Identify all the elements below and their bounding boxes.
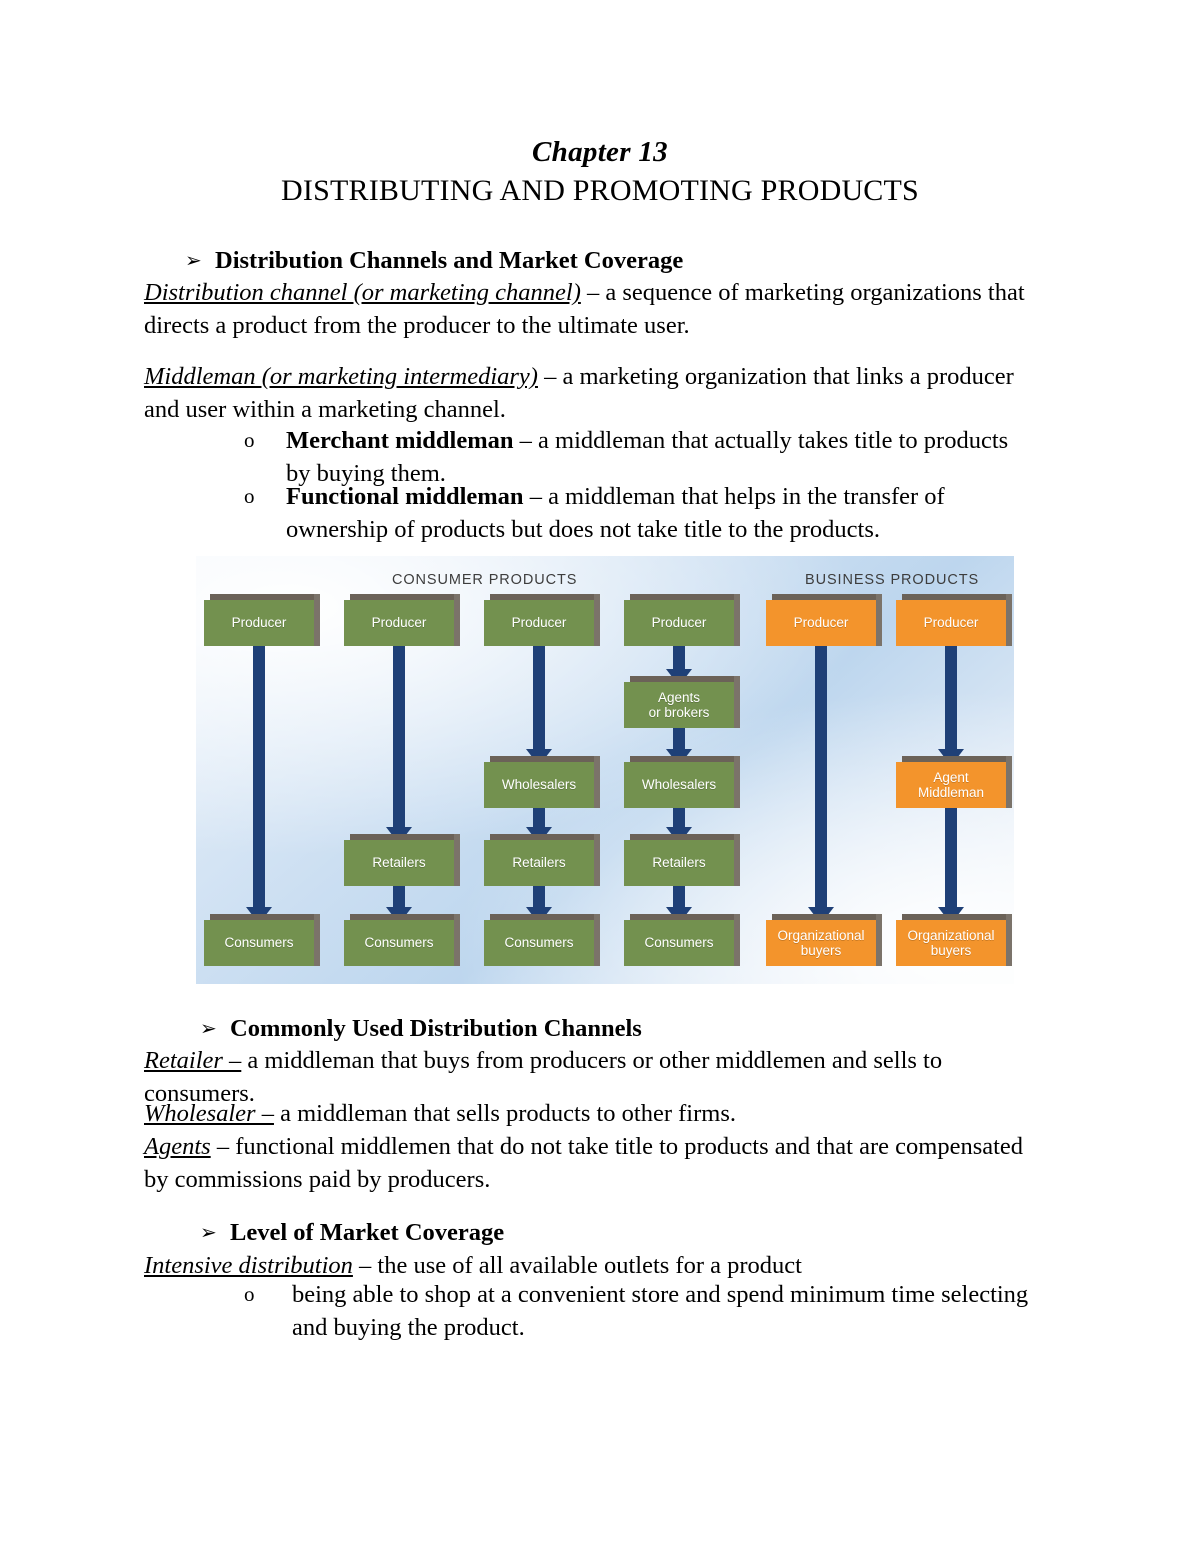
convenient-store-line1: being able to shop at a convenient store… [292, 1281, 1028, 1308]
section-heading-text: Level of Market Coverage [230, 1219, 504, 1246]
diagram-node-wholesalers: Wholesalers [484, 762, 594, 808]
node-label: Consumers [504, 935, 573, 951]
chapter-label: Chapter 13 [0, 136, 1200, 169]
section-heading-commonly-used-channels: ➢Commonly Used Distribution Channels [200, 1012, 642, 1045]
retailer-line1: a middleman that buys from producers or … [241, 1047, 942, 1074]
definition-agents: Agents – functional middlemen that do no… [144, 1130, 1079, 1196]
diagram-node-consumers: Consumers [624, 920, 734, 966]
term-distribution-channel: Distribution channel (or marketing chann… [144, 279, 581, 306]
merchant-middleman-line1: – a middleman that actually takes title … [514, 427, 1009, 454]
diagram-node-organizational-buyers: Organizationalbuyers [766, 920, 876, 966]
node-bevel-right [876, 914, 882, 966]
section-heading-distribution-channels: ➢Distribution Channels and Market Covera… [185, 244, 683, 277]
node-label: Agentsor brokers [649, 690, 710, 721]
node-label: Producer [372, 615, 427, 631]
bullet-arrow-icon: ➢ [200, 1012, 230, 1045]
distribution-channels-diagram: CONSUMER PRODUCTSBUSINESS PRODUCTSProduc… [196, 556, 1014, 984]
document-page: Chapter 13 DISTRIBUTING AND PROMOTING PR… [0, 0, 1200, 1553]
diagram-node-retailers: Retailers [624, 840, 734, 886]
middleman-text-line2: and user within a marketing channel. [144, 396, 506, 423]
agents-line1: – functional middlemen that do not take … [211, 1133, 1023, 1160]
node-bevel-right [314, 914, 320, 966]
node-bevel-right [734, 594, 740, 646]
node-label: Wholesalers [502, 777, 576, 793]
term-functional-middleman: Functional middleman [286, 483, 524, 510]
diagram-node-producer: Producer [624, 600, 734, 646]
functional-middleman-line2: ownership of products but does not take … [286, 516, 880, 543]
bullet-arrow-icon: ➢ [185, 244, 215, 277]
node-bevel-right [454, 914, 460, 966]
flow-arrow-icon [386, 644, 412, 844]
node-bevel-right [454, 594, 460, 646]
flow-arrow-icon [938, 644, 964, 766]
diagram-node-producer: Producer [344, 600, 454, 646]
node-bevel-right [594, 594, 600, 646]
node-label: Producer [512, 615, 567, 631]
intensive-distribution-text: – the use of all available outlets for a… [353, 1252, 802, 1279]
diagram-node-organizational-buyers: Organizationalbuyers [896, 920, 1006, 966]
diagram-node-consumers: Consumers [484, 920, 594, 966]
node-label: Producer [652, 615, 707, 631]
node-bevel-right [594, 756, 600, 808]
term-retailer: Retailer – [144, 1047, 241, 1074]
functional-middleman-line1: – a middleman that helps in the transfer… [524, 483, 945, 510]
figure-group-label-1: CONSUMER PRODUCTS [392, 572, 577, 588]
convenient-store-line2: and buying the product. [292, 1314, 525, 1341]
diagram-node-producer: Producer [896, 600, 1006, 646]
middleman-text-line1: – a marketing organization that links a … [538, 363, 1014, 390]
node-bevel-right [314, 594, 320, 646]
node-bevel-right [734, 676, 740, 728]
convenient-store-body: being able to shop at a convenient store… [292, 1278, 1064, 1344]
bullet-arrow-icon: ➢ [200, 1216, 230, 1249]
section-heading-text: Commonly Used Distribution Channels [230, 1015, 642, 1042]
node-bevel-right [1006, 594, 1012, 646]
node-label: Producer [794, 615, 849, 631]
node-bevel-right [876, 594, 882, 646]
node-bevel-right [594, 914, 600, 966]
node-label: Retailers [512, 855, 565, 871]
list-item-functional-middleman: o Functional middleman – a middleman tha… [244, 480, 1044, 546]
definition-middleman: Middleman (or marketing intermediary) – … [144, 360, 1074, 426]
node-label: Wholesalers [642, 777, 716, 793]
node-bevel-right [594, 834, 600, 886]
term-middleman: Middleman (or marketing intermediary) [144, 363, 538, 390]
diagram-node-agent-middleman: AgentMiddleman [896, 762, 1006, 808]
flow-arrow-icon [246, 644, 272, 924]
diagram-node-producer: Producer [204, 600, 314, 646]
node-label: Consumers [364, 935, 433, 951]
circle-bullet-icon: o [244, 1278, 255, 1311]
node-label: Organizationalbuyers [907, 928, 994, 959]
node-bevel-right [734, 914, 740, 966]
definition-text-line1: – a sequence of marketing organizations … [581, 279, 1025, 306]
definition-wholesaler: Wholesaler – a middleman that sells prod… [144, 1097, 1074, 1130]
definition-text-line2: directs a product from the producer to t… [144, 312, 690, 339]
diagram-node-producer: Producer [484, 600, 594, 646]
node-label: Organizationalbuyers [777, 928, 864, 959]
node-label: Retailers [372, 855, 425, 871]
circle-bullet-icon: o [244, 424, 255, 457]
node-label: Producer [232, 615, 287, 631]
node-bevel-right [734, 834, 740, 886]
diagram-node-producer: Producer [766, 600, 876, 646]
figure-group-label-2: BUSINESS PRODUCTS [805, 572, 979, 588]
term-intensive-distribution: Intensive distribution [144, 1252, 353, 1279]
section-heading-level-of-market-coverage: ➢Level of Market Coverage [200, 1216, 504, 1249]
node-bevel-right [1006, 914, 1012, 966]
flow-arrow-icon [808, 644, 834, 924]
definition-distribution-channel: Distribution channel (or marketing chann… [144, 276, 1074, 342]
node-bevel-right [454, 834, 460, 886]
term-wholesaler: Wholesaler – [144, 1100, 274, 1127]
list-item-convenient-store: o being able to shop at a convenient sto… [244, 1278, 1064, 1344]
section-heading-text: Distribution Channels and Market Coverag… [215, 247, 683, 274]
flow-arrow-icon [938, 806, 964, 924]
node-label: Consumers [224, 935, 293, 951]
node-label: Retailers [652, 855, 705, 871]
functional-middleman-body: Functional middleman – a middleman that … [286, 480, 1044, 546]
node-bevel-right [1006, 756, 1012, 808]
term-agents: Agents [144, 1133, 211, 1160]
diagram-node-consumers: Consumers [204, 920, 314, 966]
diagram-node-retailers: Retailers [484, 840, 594, 886]
diagram-node-consumers: Consumers [344, 920, 454, 966]
circle-bullet-icon: o [244, 480, 255, 513]
page-title: DISTRIBUTING AND PROMOTING PRODUCTS [0, 174, 1200, 208]
diagram-node-retailers: Retailers [344, 840, 454, 886]
flow-arrow-icon [526, 644, 552, 766]
node-label: Consumers [644, 935, 713, 951]
wholesaler-line1: a middleman that sells products to other… [274, 1100, 736, 1127]
node-label: AgentMiddleman [918, 770, 984, 801]
term-merchant-middleman: Merchant middleman [286, 427, 514, 454]
node-label: Producer [924, 615, 979, 631]
diagram-node-wholesalers: Wholesalers [624, 762, 734, 808]
node-bevel-right [734, 756, 740, 808]
diagram-node-agents-or-brokers: Agentsor brokers [624, 682, 734, 728]
agents-line2: by commissions paid by producers. [144, 1166, 490, 1193]
